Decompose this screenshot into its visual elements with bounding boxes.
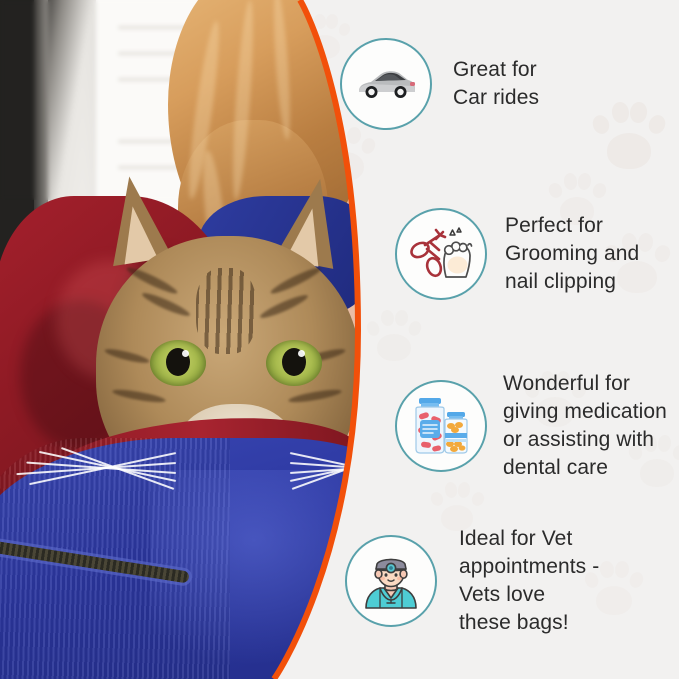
paw-print-watermark xyxy=(592,96,666,170)
feature-text-car-rides: Great for Car rides xyxy=(453,56,539,112)
veterinarian-icon xyxy=(360,550,422,612)
feature-text-medication: Wonderful for giving medication or assis… xyxy=(503,370,667,482)
feature-row-grooming: Perfect for Grooming and nail clipping xyxy=(395,208,639,300)
medicine-bottles-icon xyxy=(409,396,473,456)
paw-print-watermark xyxy=(430,478,484,532)
feature-row-car-rides: Great for Car rides xyxy=(340,38,539,130)
feature-badge-grooming xyxy=(395,208,487,300)
feature-row-vet-visits: Ideal for Vet appointments - Vets love t… xyxy=(345,525,599,637)
car-icon xyxy=(355,67,417,101)
nail-clipper-paw-icon xyxy=(409,225,473,283)
feature-badge-vet-visits xyxy=(345,535,437,627)
feature-text-grooming: Perfect for Grooming and nail clipping xyxy=(505,212,639,296)
feature-badge-car-rides xyxy=(340,38,432,130)
feature-row-medication: Wonderful for giving medication or assis… xyxy=(395,370,667,482)
infographic-canvas: Great for Car rides xyxy=(0,0,679,679)
feature-badge-medication xyxy=(395,380,487,472)
paw-print-watermark xyxy=(366,306,422,362)
feature-text-vet-visits: Ideal for Vet appointments - Vets love t… xyxy=(459,525,599,637)
